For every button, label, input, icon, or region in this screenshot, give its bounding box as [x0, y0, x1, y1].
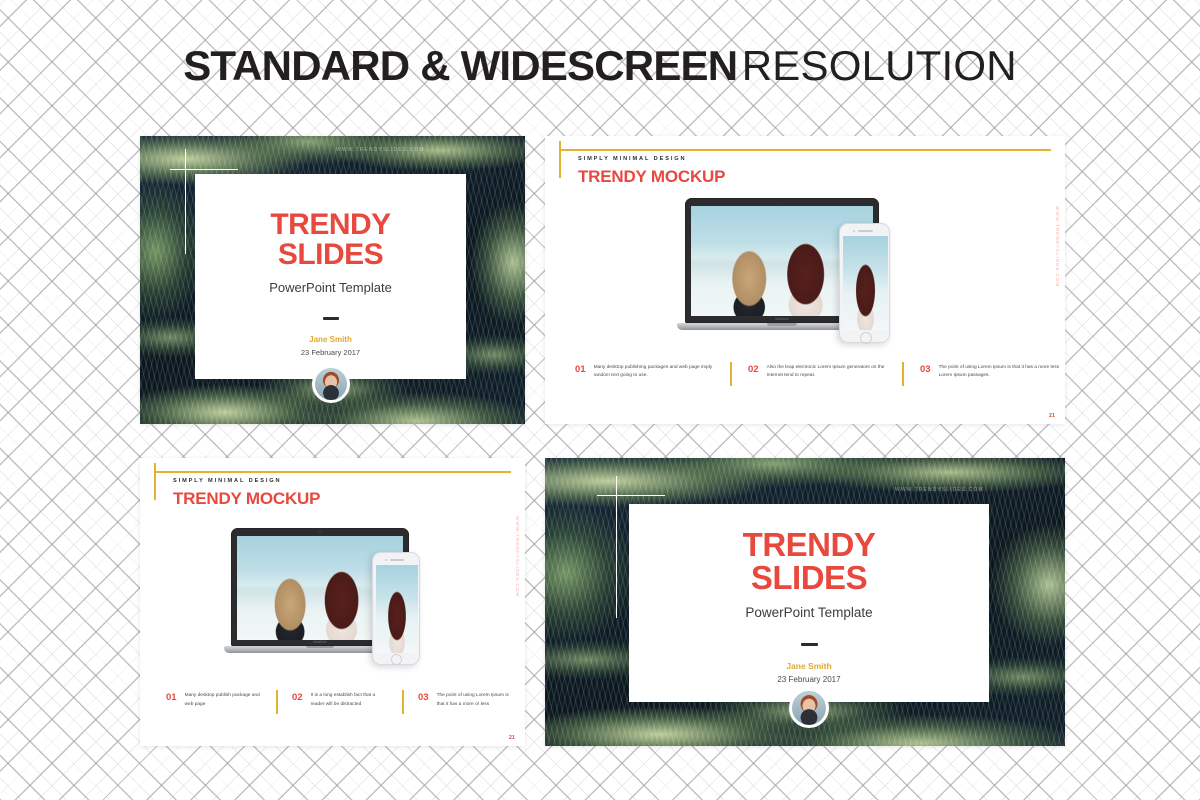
slide-title-line-1: TRENDY	[743, 528, 876, 561]
feature-text: Also the leap electronic Lorem Ipsum gen…	[767, 364, 888, 381]
phone-camera-icon	[385, 559, 387, 561]
phone-screen	[843, 236, 888, 330]
accent-rule-vertical	[559, 141, 561, 178]
feature-number: 03	[920, 364, 931, 375]
avatar	[789, 688, 829, 728]
feature-number: 01	[166, 692, 177, 703]
slide-eyebrow: SIMPLY MINIMAL DESIGN	[578, 156, 687, 162]
accent-rule-horizontal	[559, 149, 1051, 151]
phone-speaker-icon	[390, 559, 404, 561]
presentation-date: 23 February 2017	[301, 348, 360, 357]
slide-title-line-1: TRENDY	[270, 210, 390, 240]
feature-item-01: 01 Many desktop publish package and web …	[166, 692, 262, 709]
feature-divider-2	[902, 362, 904, 386]
author-name: Jane Smith	[309, 335, 352, 344]
feature-item-01: 01 Many desktop publishing packages and …	[575, 364, 715, 381]
feature-text: The point of using Lorem Ipsum is that i…	[939, 364, 1060, 381]
author-name: Jane Smith	[786, 661, 831, 671]
feature-number: 02	[292, 692, 303, 703]
presentation-date: 23 February 2017	[777, 675, 840, 684]
feature-item-03: 03 The point of using Lorem Ipsum is tha…	[418, 692, 514, 709]
slide-mockup-widescreen[interactable]: SIMPLY MINIMAL DESIGN TRENDY MOCKUP WWW.…	[545, 136, 1065, 424]
slide-watermark: WWW.TRENDYSLIDES.COM	[895, 487, 984, 493]
page-title-light: RESOLUTION	[742, 42, 1017, 89]
corner-mark-vertical	[185, 149, 186, 254]
side-watermark: WWW.TRENDYSLIDES.COM	[1055, 206, 1060, 287]
slide-title-line-2: SLIDES	[270, 240, 390, 270]
slide-title-widescreen[interactable]: WWW.TRENDYSLIDES.COM TRENDY SLIDES Power…	[545, 458, 1065, 746]
feature-text: Many desktop publish package and web pag…	[185, 692, 262, 709]
device-mockup-group: MacBook	[224, 528, 474, 688]
feature-item-02: 02 It is a long establish fact that a re…	[292, 692, 388, 709]
feature-number: 01	[575, 364, 586, 375]
phone-mockup	[839, 223, 890, 343]
accent-rule-horizontal	[154, 471, 511, 473]
slide-subtitle: PowerPoint Template	[745, 605, 872, 620]
feature-divider-1	[276, 690, 278, 714]
side-watermark: WWW.TRENDYSLIDES.COM	[515, 516, 520, 597]
slide-watermark: WWW.TRENDYSLIDES.COM	[336, 147, 425, 153]
poster-canvas: STANDARD & WIDESCREEN RESOLUTION WWW.TRE…	[0, 0, 1200, 800]
laptop-trackpad-notch	[767, 323, 797, 326]
corner-mark-horizontal	[170, 169, 238, 170]
slide-title-line-2: SLIDES	[743, 561, 876, 594]
photo-single-woman	[376, 565, 418, 653]
corner-mark-vertical	[616, 476, 617, 618]
photo-single-woman	[843, 236, 888, 330]
feature-number: 03	[418, 692, 429, 703]
feature-number: 02	[748, 364, 759, 375]
feature-item-02: 02 Also the leap electronic Lorem Ipsum …	[748, 364, 888, 381]
page-title-strong: STANDARD & WIDESCREEN	[183, 42, 737, 89]
phone-speaker-icon	[858, 230, 873, 232]
title-card: TRENDY SLIDES PowerPoint Template Jane S…	[195, 174, 466, 379]
slide-page-number: 21	[1049, 413, 1055, 419]
corner-mark-horizontal	[597, 495, 665, 496]
slide-title-heading: TRENDY SLIDES	[743, 528, 876, 594]
feature-text: The point of using Lorem Ipsum is that i…	[437, 692, 514, 709]
feature-divider-1	[730, 362, 732, 386]
phone-screen	[376, 565, 418, 653]
slide-mockup-standard[interactable]: SIMPLY MINIMAL DESIGN TRENDY MOCKUP WWW.…	[140, 458, 525, 746]
phone-mockup	[372, 552, 420, 665]
slide-title-heading: TRENDY SLIDES	[270, 210, 390, 270]
slide-heading: TRENDY MOCKUP	[578, 167, 725, 187]
phone-home-button-icon	[860, 332, 872, 344]
slide-heading: TRENDY MOCKUP	[173, 489, 320, 509]
phone-camera-icon	[853, 230, 855, 232]
accent-rule-vertical	[154, 463, 156, 500]
feature-text: Many desktop publishing packages and web…	[594, 364, 715, 381]
slide-page-number: 21	[509, 735, 515, 741]
slide-subtitle: PowerPoint Template	[269, 280, 392, 295]
slide-eyebrow: SIMPLY MINIMAL DESIGN	[173, 478, 282, 484]
slide-title-standard[interactable]: WWW.TRENDYSLIDES.COM TRENDY SLIDES Power…	[140, 136, 525, 424]
feature-item-03: 03 The point of using Lorem Ipsum is tha…	[920, 364, 1060, 381]
divider-dash	[801, 643, 818, 646]
avatar	[312, 365, 350, 403]
title-card: TRENDY SLIDES PowerPoint Template Jane S…	[629, 504, 989, 702]
phone-home-button-icon	[391, 654, 402, 665]
page-title: STANDARD & WIDESCREEN RESOLUTION	[0, 42, 1200, 90]
divider-dash	[323, 317, 339, 320]
feature-text: It is a long establish fact that a reade…	[311, 692, 388, 709]
feature-divider-2	[402, 690, 404, 714]
device-mockup-group: MacBook	[677, 198, 947, 358]
